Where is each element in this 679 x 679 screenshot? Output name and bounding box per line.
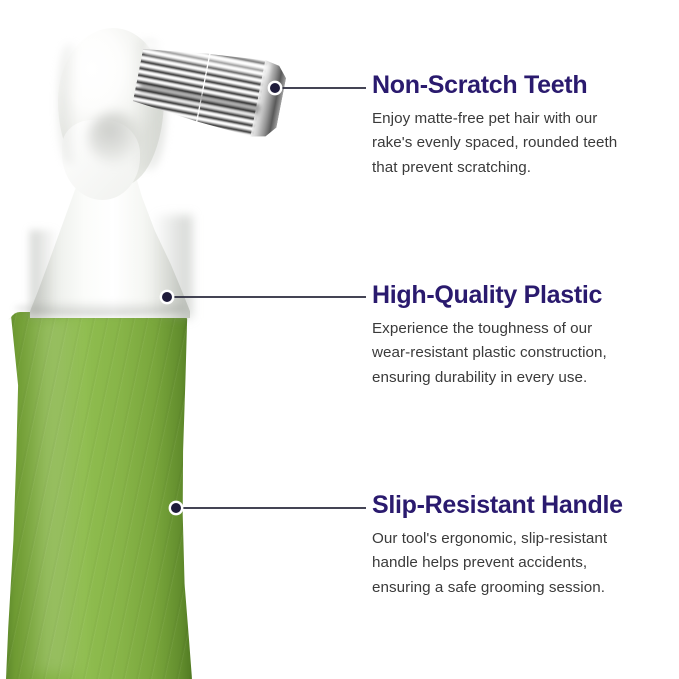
callout-title-high-quality-plastic: High-Quality Plastic <box>372 282 662 310</box>
callout-body-line: rake's evenly spaced, rounded teeth <box>372 131 662 156</box>
callout-body-line: wear-resistant plastic construction, <box>372 341 662 366</box>
infographic-canvas: Non-Scratch Teeth Enjoy matte-free pet h… <box>0 0 679 679</box>
callout-high-quality-plastic: High-Quality Plastic Experience the toug… <box>372 282 662 390</box>
callout-title-slip-resistant-handle: Slip-Resistant Handle <box>372 492 662 520</box>
callout-body-line: ensuring durability in every use. <box>372 366 662 391</box>
callout-non-scratch-teeth: Non-Scratch Teeth Enjoy matte-free pet h… <box>372 72 662 180</box>
callout-body-line: ensuring a safe grooming session. <box>372 576 662 601</box>
green-handle-shape <box>6 312 192 679</box>
callout-title-non-scratch-teeth: Non-Scratch Teeth <box>372 72 662 100</box>
callout-body-line: Experience the toughness of our <box>372 317 662 342</box>
callout-body-line: handle helps prevent accidents, <box>372 551 662 576</box>
callout-body-non-scratch-teeth: Enjoy matte-free pet hair with our rake'… <box>372 107 662 181</box>
callout-body-high-quality-plastic: Experience the toughness of our wear-res… <box>372 317 662 391</box>
callout-slip-resistant-handle: Slip-Resistant Handle Our tool's ergonom… <box>372 492 662 600</box>
callout-body-line: Our tool's ergonomic, slip-resistant <box>372 527 662 552</box>
callout-body-line: that prevent scratching. <box>372 156 662 181</box>
callout-body-slip-resistant-handle: Our tool's ergonomic, slip-resistant han… <box>372 527 662 601</box>
callout-body-line: Enjoy matte-free pet hair with our <box>372 107 662 132</box>
product-illustration <box>0 0 340 679</box>
